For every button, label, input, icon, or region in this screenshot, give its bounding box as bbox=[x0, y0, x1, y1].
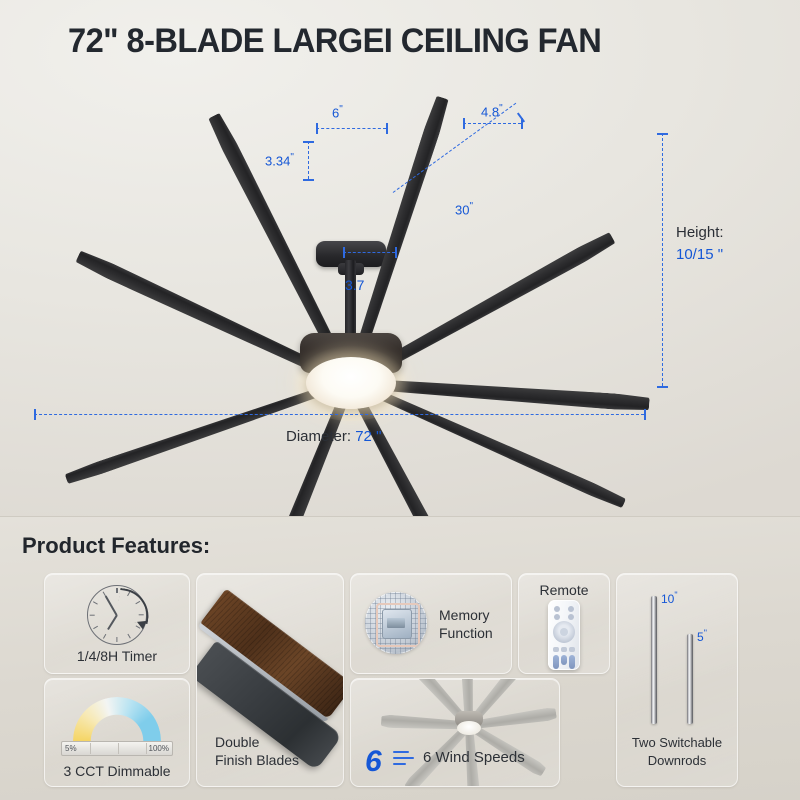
feature-card-timer[interactable]: 1/4/8H Timer bbox=[44, 573, 190, 674]
feature-card-downrods[interactable]: 10" 5" Two Switchable Downrods bbox=[616, 573, 738, 787]
rotate-arrow-icon bbox=[116, 588, 152, 624]
cct-arc-icon bbox=[73, 697, 161, 741]
downrod-long-label: 10" bbox=[661, 590, 678, 606]
dim-canopy-width: 6" bbox=[332, 104, 343, 120]
features-heading: Product Features: bbox=[22, 533, 210, 559]
dim-blade-width: 4.8" bbox=[481, 103, 503, 119]
downrod-short-label: 5" bbox=[697, 628, 707, 644]
remote-icon bbox=[548, 600, 580, 670]
dim-cap bbox=[657, 133, 668, 135]
dim-canopy-height: 3.34" bbox=[265, 152, 294, 168]
feature-card-cct-dimmable[interactable]: 5% 100% 3 CCT Dimmable bbox=[44, 678, 190, 787]
dim-light-size: 3.7 bbox=[345, 277, 364, 293]
dim-cap bbox=[644, 409, 646, 420]
feature-card-wind-speeds[interactable]: 6 6 Wind Speeds bbox=[350, 678, 560, 787]
product-infographic: 72" 8-BLADE LARGEI CEILING FAN 6" bbox=[0, 0, 800, 800]
feature-label-memory-line2: Function bbox=[351, 625, 511, 642]
dim-cap bbox=[34, 409, 36, 420]
downrod-long bbox=[651, 596, 657, 724]
feature-label-blades-line1: Double bbox=[197, 734, 343, 751]
dim-canopy-height-line bbox=[308, 141, 309, 179]
dim-canopy-width-line bbox=[316, 128, 386, 129]
dimming-slider[interactable]: 5% 100% bbox=[61, 741, 173, 756]
hero-diagram-section: 72" 8-BLADE LARGEI CEILING FAN 6" bbox=[0, 0, 800, 516]
slider-max-label: 100% bbox=[149, 744, 169, 753]
dim-cap bbox=[303, 179, 314, 181]
dim-cap bbox=[303, 141, 314, 143]
slider-min-label: 5% bbox=[65, 744, 77, 753]
dim-cap bbox=[657, 386, 668, 388]
feature-label-remote: Remote bbox=[519, 582, 609, 599]
feature-label-memory-line1: Memory bbox=[351, 607, 511, 624]
feature-label-wind: 6 Wind Speeds bbox=[351, 749, 559, 766]
product-features-section: Product Features: bbox=[0, 516, 800, 800]
ceiling-fan-illustration bbox=[0, 95, 680, 415]
feature-card-double-finish-blades[interactable]: Double Finish Blades bbox=[196, 573, 344, 787]
feature-label-timer: 1/4/8H Timer bbox=[45, 648, 189, 665]
downrod-short bbox=[687, 634, 693, 724]
dim-diameter-label: Diameter: 72 " bbox=[286, 428, 381, 445]
dim-height-line bbox=[662, 133, 663, 386]
clock-icon bbox=[87, 585, 147, 645]
fan-downrod bbox=[345, 260, 356, 338]
fan-led-light bbox=[306, 357, 396, 409]
dim-cap bbox=[395, 247, 397, 258]
feature-label-cct: 3 CCT Dimmable bbox=[45, 763, 189, 780]
dim-cap bbox=[343, 247, 345, 258]
dim-light-line bbox=[343, 252, 395, 253]
page-title: 72" 8-BLADE LARGEI CEILING FAN bbox=[68, 22, 740, 61]
dim-blade-width-line bbox=[463, 123, 521, 124]
features-grid: 1/4/8H Timer 5% 100% 3 CCT Dimmable bbox=[44, 573, 774, 785]
feature-card-memory-function[interactable]: Memory Function bbox=[350, 573, 512, 674]
dim-cap bbox=[316, 123, 318, 134]
dim-cap bbox=[463, 118, 465, 129]
feature-label-rods-line2: Downrods bbox=[617, 752, 737, 769]
dim-cap bbox=[386, 123, 388, 134]
dim-diameter-line bbox=[34, 414, 644, 415]
feature-label-blades-line2: Finish Blades bbox=[197, 752, 343, 769]
feature-card-remote[interactable]: Remote bbox=[518, 573, 610, 674]
fan-top-view-icon bbox=[351, 678, 559, 757]
feature-label-rods-line1: Two Switchable bbox=[617, 734, 737, 751]
dim-height-label: Height: 10/15 " bbox=[676, 222, 724, 266]
dim-blade-length: 30" bbox=[455, 201, 473, 217]
